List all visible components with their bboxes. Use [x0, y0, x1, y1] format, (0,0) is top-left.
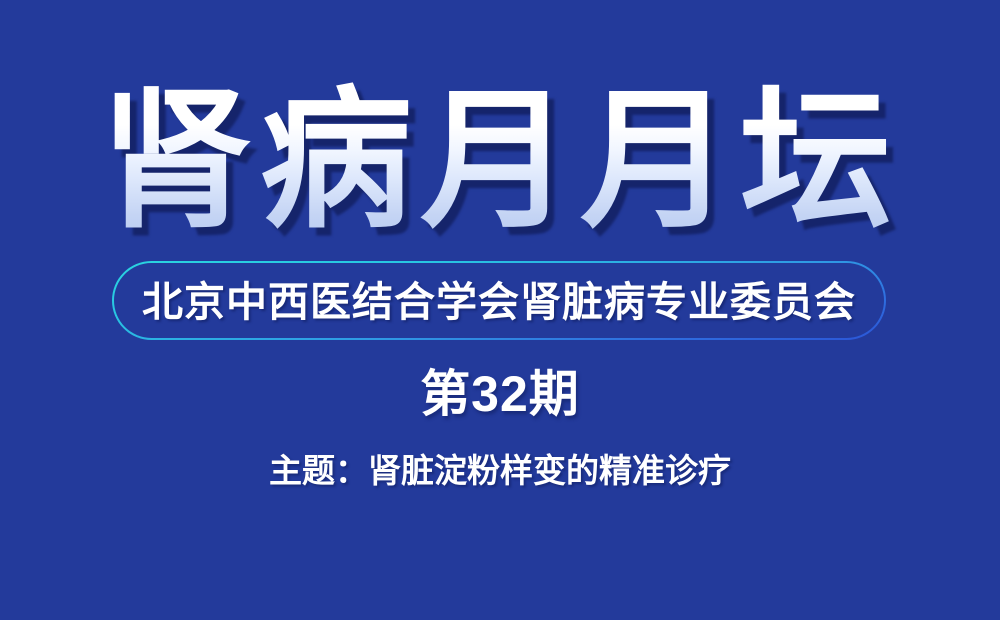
issue-number: 第32期 [0, 364, 1000, 424]
event-poster: 肾病月月坛 肾病月月坛 北京中西医结合学会肾脏病专业委员会 第32期 主题：肾脏… [0, 0, 1000, 620]
theme-line: 主题：肾脏淀粉样变的精准诊疗 [0, 450, 1000, 494]
organization-pill: 北京中西医结合学会肾脏病专业委员会 [112, 261, 886, 340]
organization-name: 北京中西医结合学会肾脏病专业委员会 [142, 280, 856, 324]
poster-title-block: 肾病月月坛 肾病月月坛 [0, 78, 1000, 248]
poster-title: 肾病月月坛 [0, 78, 1000, 246]
organization-pill-inner: 北京中西医结合学会肾脏病专业委员会 [114, 263, 884, 338]
